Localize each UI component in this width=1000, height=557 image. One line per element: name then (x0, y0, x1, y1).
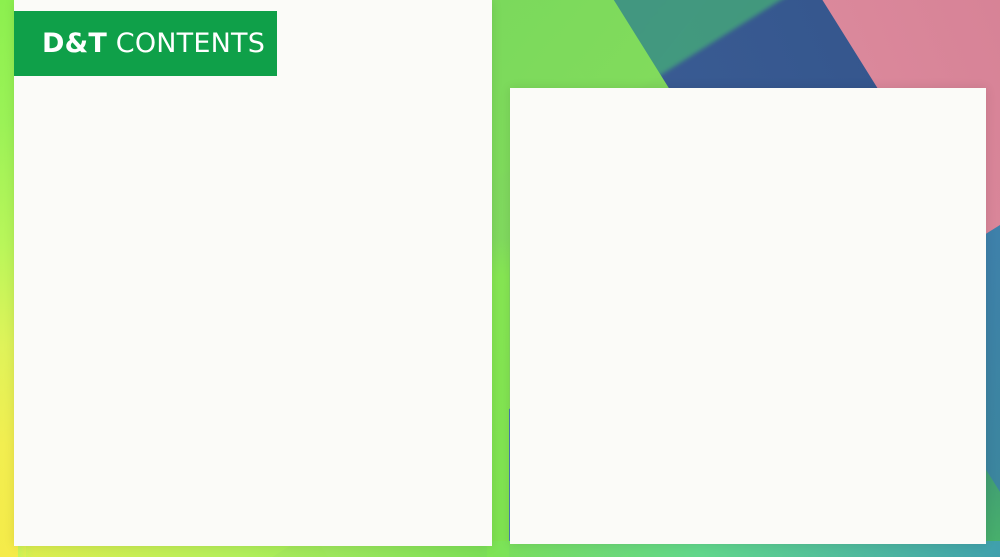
page-title-bar: D&T CONTENTS (14, 11, 277, 76)
right-contents-card (510, 88, 986, 544)
page-title: D&T CONTENTS (42, 28, 265, 59)
left-contents-card: D&T CONTENTS (14, 0, 492, 546)
contents-page: D&T CONTENTS E-TextilesLED Mask Project4… (0, 0, 1000, 557)
page-title-rest: CONTENTS (107, 28, 265, 59)
page-title-bold: D&T (42, 28, 107, 59)
